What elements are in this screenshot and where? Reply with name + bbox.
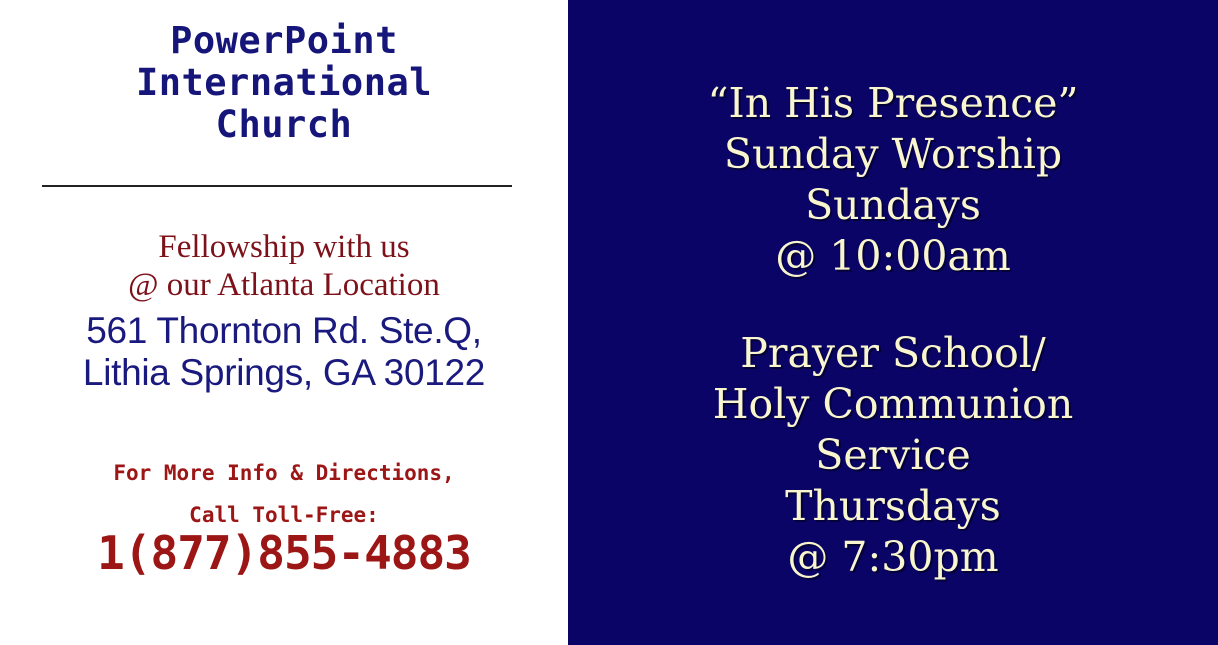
sunday-service-line-2: Sunday Worship: [568, 129, 1218, 180]
church-name-line-3: Church: [0, 104, 568, 146]
thursday-service-line-1: Prayer School/: [568, 328, 1218, 379]
thursday-service-time: @ 7:30pm: [568, 532, 1218, 583]
fellowship-line-2: @ our Atlanta Location: [0, 266, 568, 304]
toll-free-phone-number[interactable]: 1(877)855-4883: [0, 527, 568, 579]
service-prayer-school-communion: Prayer School/ Holy Communion Service Th…: [568, 328, 1218, 583]
service-schedule-panel: “In His Presence” Sunday Worship Sundays…: [568, 0, 1218, 645]
thursday-service-line-3: Service: [568, 430, 1218, 481]
divider-rule: [42, 185, 512, 187]
church-name-line-2: International: [0, 62, 568, 104]
church-address: 561 Thornton Rd. Ste.Q, Lithia Springs, …: [0, 310, 568, 394]
sunday-service-time: @ 10:00am: [568, 231, 1218, 282]
contact-info-heading-line-2: Call Toll-Free:: [0, 503, 568, 527]
thursday-service-line-2: Holy Communion: [568, 379, 1218, 430]
church-advertisement-banner: PowerPoint International Church Fellowsh…: [0, 0, 1218, 645]
church-name-line-1: PowerPoint: [0, 20, 568, 62]
service-sunday-worship: “In His Presence” Sunday Worship Sundays…: [568, 78, 1218, 282]
left-info-panel: PowerPoint International Church Fellowsh…: [0, 0, 568, 645]
church-name-title: PowerPoint International Church: [0, 20, 568, 146]
thursday-service-day: Thursdays: [568, 481, 1218, 532]
fellowship-invitation: Fellowship with us @ our Atlanta Locatio…: [0, 228, 568, 304]
sunday-service-day: Sundays: [568, 180, 1218, 231]
address-street-line: 561 Thornton Rd. Ste.Q,: [0, 310, 568, 352]
contact-info-heading-line-1: For More Info & Directions,: [0, 461, 568, 485]
address-city-state-zip-line: Lithia Springs, GA 30122: [0, 352, 568, 394]
fellowship-line-1: Fellowship with us: [0, 228, 568, 266]
sunday-service-line-1: “In His Presence”: [568, 78, 1218, 129]
